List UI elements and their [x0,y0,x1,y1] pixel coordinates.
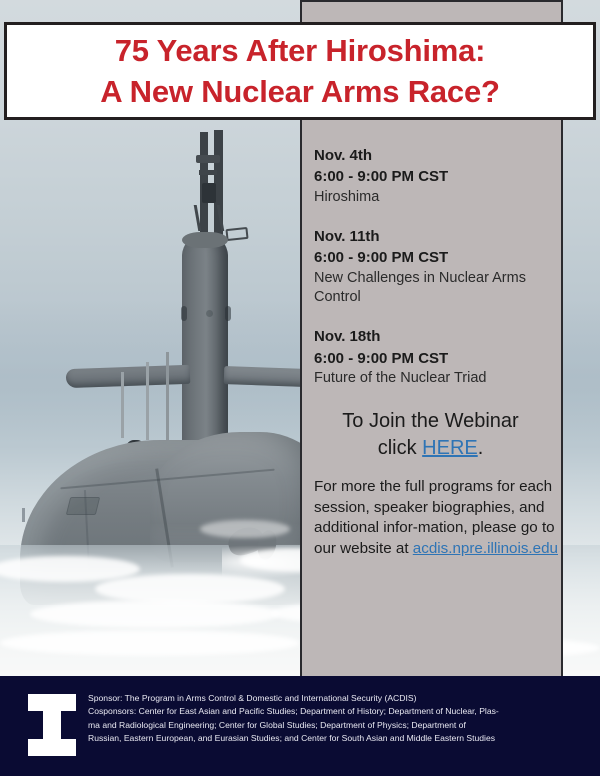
webinar-here-link[interactable]: HERE [422,437,478,459]
mast-side-arm [225,227,248,241]
deck-antenna-2 [146,362,149,440]
sponsor-line: ma and Radiological Engineering; Center … [88,719,588,732]
sponsor-credits: Sponsor: The Program in Arms Control & D… [88,692,588,745]
university-of-illinois-block-i-icon [28,694,76,756]
poster-title-banner: 75 Years After Hiroshima: A New Nuclear … [4,22,596,120]
foam-patch [0,630,300,656]
acdis-website-link[interactable]: acdis.npre.illinois.edu [413,540,558,557]
session-time: 6:00 - 9:00 PM CST [314,348,559,369]
session-topic: Future of the Nuclear Triad [314,369,550,388]
poster-title-line-1: 75 Years After Hiroshima: [115,30,486,71]
session-item: Nov. 4th 6:00 - 9:00 PM CST Hiroshima [314,145,559,207]
session-item: Nov. 11th 6:00 - 9:00 PM CST New Challen… [314,226,559,307]
block-i-top-bar [28,694,76,711]
session-topic: New Challenges in Nuclear Arms Control [314,269,550,308]
join-webinar-block: To Join the Webinar click HERE. [314,408,559,461]
mast-support-rigging [194,205,225,231]
session-time: 6:00 - 9:00 PM CST [314,166,559,187]
sail-port-right [225,306,231,321]
sponsor-line: Russian, Eastern European, and Eurasian … [88,732,588,745]
mast-sensor-box [202,183,216,203]
submarine-sail-cap [182,232,228,248]
deck-antenna-3 [166,352,169,442]
sail-marking [206,310,213,317]
deck-antenna-1 [121,372,124,438]
info-panel-content: Nov. 4th 6:00 - 9:00 PM CST Hiroshima No… [314,145,559,559]
mast-antenna-array [196,155,220,163]
session-date: Nov. 4th [314,145,559,166]
join-webinar-heading: To Join the Webinar [342,410,518,432]
session-time: 6:00 - 9:00 PM CST [314,247,559,268]
foam-patch [30,600,280,628]
session-topic: Hiroshima [314,188,550,207]
sponsor-line: Sponsor: The Program in Arms Control & D… [88,692,588,705]
event-poster: Nov. 4th 6:00 - 9:00 PM CST Hiroshima No… [0,0,600,776]
session-item: Nov. 18th 6:00 - 9:00 PM CST Future of t… [314,326,559,388]
session-date: Nov. 11th [314,226,559,247]
foam-patch [200,520,290,538]
hull-hatch [66,497,100,515]
block-i-bottom-bar [28,739,76,756]
sail-port-left [181,306,187,321]
mast-antenna-crossbar [199,170,217,175]
sponsor-line: Cosponsors: Center for East Asian and Pa… [88,705,588,718]
session-date: Nov. 18th [314,326,559,347]
more-info-block: For more the full programs for each sess… [314,477,558,559]
join-period: . [478,437,484,459]
join-click-prefix: click [378,437,422,459]
distant-marker [22,508,25,522]
submarine-sail [182,234,228,464]
block-i-stem [43,711,61,739]
poster-title-line-2: A New Nuclear Arms Race? [100,71,500,112]
